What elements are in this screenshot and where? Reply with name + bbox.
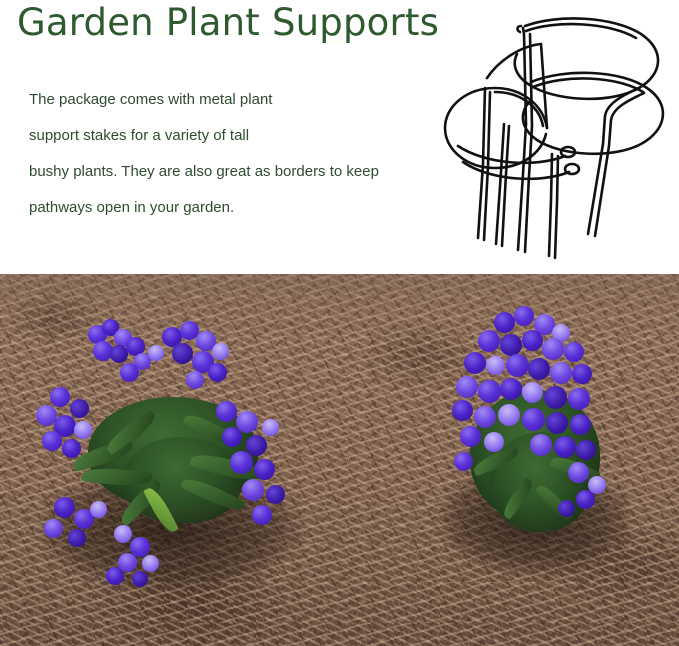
- flower-bloom: [172, 343, 193, 364]
- flower-bloom: [222, 427, 242, 447]
- flower-bloom: [142, 555, 159, 572]
- cross-bar-lower-loop: [565, 164, 579, 174]
- flower-bloom: [500, 334, 522, 356]
- front-hoop-hook-tip: [517, 26, 521, 32]
- middle-hoop-rim-inner: [533, 78, 643, 92]
- after-supported-plant: [438, 304, 658, 564]
- flower-bloom: [478, 330, 500, 352]
- flower-bloom: [74, 421, 92, 439]
- flower-bloom: [570, 414, 591, 435]
- leg-4: [549, 154, 552, 256]
- flower-bloom: [542, 338, 564, 360]
- back-hoop-rim-inner: [495, 92, 543, 126]
- flower-bloom: [90, 501, 107, 518]
- flower-bloom: [564, 342, 584, 362]
- flower-bloom: [568, 388, 590, 410]
- flower-bloom: [522, 408, 545, 431]
- flower-bloom: [266, 485, 285, 504]
- flower-bloom: [528, 358, 550, 380]
- before-unsupported-plant: [30, 319, 320, 599]
- flower-bloom: [148, 345, 164, 361]
- flower-bloom: [68, 529, 86, 547]
- flower-bloom: [242, 479, 264, 501]
- flower-bloom: [452, 400, 473, 421]
- flower-bloom: [514, 306, 534, 326]
- flower-bloom: [558, 500, 575, 517]
- flower-bloom: [568, 462, 589, 483]
- flower-bloom: [132, 571, 148, 587]
- flower-bloom: [498, 404, 520, 426]
- right-support-leg-inner: [595, 93, 644, 236]
- flower-bloom: [208, 363, 227, 382]
- flower-bloom: [114, 525, 132, 543]
- flower-bloom: [474, 406, 496, 428]
- flower-bloom: [454, 452, 473, 471]
- flower-bloom: [460, 426, 481, 447]
- flower-bloom: [262, 419, 279, 436]
- flower-bloom: [252, 505, 272, 525]
- flower-bloom: [186, 371, 204, 389]
- flower-bloom: [216, 401, 237, 422]
- page-title: Garden Plant Supports: [17, 1, 439, 45]
- right-support-leg-outer: [588, 88, 639, 234]
- flower-bloom: [522, 330, 543, 351]
- flower-bloom: [546, 412, 568, 434]
- flower-bloom: [254, 459, 275, 480]
- flower-bloom: [50, 387, 70, 407]
- flower-bloom: [550, 362, 572, 384]
- flower-bloom: [544, 386, 567, 409]
- flower-bloom: [494, 312, 515, 333]
- flower-bloom: [456, 376, 478, 398]
- plant-support-illustration: [425, 4, 679, 266]
- front-hoop-riser-left-b: [530, 34, 532, 126]
- flower-bloom: [44, 519, 63, 538]
- flower-bloom: [576, 490, 595, 509]
- cross-bar-upper: [458, 146, 565, 163]
- front-hoop-rim-top-inner: [526, 24, 636, 38]
- leg-4b: [555, 156, 558, 258]
- flower-bloom: [70, 399, 89, 418]
- flower-bloom: [106, 567, 124, 585]
- flower-bloom: [484, 432, 504, 452]
- flower-bloom: [230, 451, 253, 474]
- flower-bloom: [522, 382, 543, 403]
- flower-bloom: [120, 363, 139, 382]
- flower-bloom: [500, 378, 522, 400]
- flower-bloom: [572, 364, 592, 384]
- flower-bloom: [530, 434, 552, 456]
- flower-bloom: [486, 356, 505, 375]
- leg-3b: [525, 126, 532, 252]
- flower-bloom: [554, 436, 576, 458]
- flower-bloom: [246, 435, 267, 456]
- leg-1: [478, 88, 485, 238]
- flower-bloom: [506, 354, 529, 377]
- product-infographic: Garden Plant Supports The package comes …: [0, 0, 679, 646]
- flower-bloom: [464, 352, 486, 374]
- flower-bloom: [478, 380, 501, 403]
- flower-bloom: [212, 343, 229, 360]
- flower-bloom: [576, 440, 596, 460]
- flower-bloom: [62, 439, 81, 458]
- header-panel: Garden Plant Supports The package comes …: [0, 0, 679, 274]
- before-after-photo: [0, 274, 679, 646]
- flower-bloom: [54, 497, 75, 518]
- flower-bloom: [42, 431, 62, 451]
